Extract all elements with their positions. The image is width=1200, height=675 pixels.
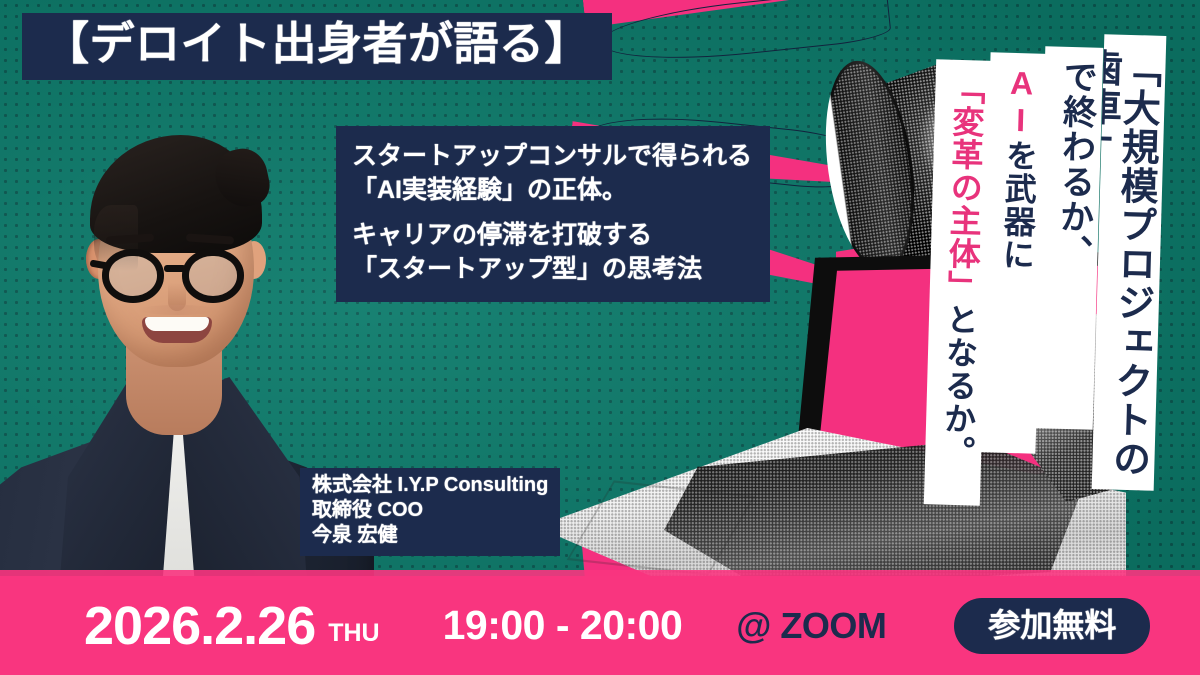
speaker-role: 取締役 COO	[312, 498, 548, 523]
event-platform: @ ZOOM	[736, 608, 886, 644]
headline-line-2: 「AI実装経験」の正体。	[352, 174, 752, 208]
speaker-teeth	[145, 317, 209, 331]
event-date: 2026.2.26	[84, 599, 315, 653]
glasses-lens-right	[182, 249, 244, 303]
vertical-copy-accent: AI	[1002, 65, 1040, 140]
speaker-mouth	[142, 317, 212, 343]
vertical-copy-accent: 「変革の主体」	[943, 72, 985, 304]
headline-line-3: キャリアの停滞を打破する	[352, 219, 752, 253]
headline-line-4: 「スタートアップ型」の思考法	[352, 253, 752, 287]
event-day-of-week: THU	[328, 621, 379, 646]
free-admission-badge[interactable]: 参加無料	[954, 598, 1150, 654]
speaker-cheek	[138, 305, 218, 315]
glasses-bridge	[164, 265, 186, 272]
title-banner-text: 【デロイト出身者が語る】	[44, 20, 590, 69]
speaker-credit: 株式会社 I.Y.P Consulting 取締役 COO 今泉 宏健	[300, 468, 560, 556]
banner-stage: 【デロイト出身者が語る】 スタートアップコンサルで得られる 「AI実装経験」の正…	[0, 0, 1200, 675]
headline-gap	[352, 207, 752, 219]
speaker-name: 今泉 宏健	[312, 523, 548, 548]
title-banner: 【デロイト出身者が語る】	[22, 13, 612, 80]
vertical-copy-column-1: 「大規模プロジェクトの歯車」	[1092, 34, 1167, 491]
speaker-company: 株式会社 I.Y.P Consulting	[312, 473, 548, 498]
headline-line-1: スタートアップコンサルで得られる	[352, 140, 752, 174]
speaker-photo	[0, 95, 350, 580]
glasses-lens-left	[102, 249, 164, 303]
event-time: 19:00 - 20:00	[443, 605, 683, 646]
bottom-bar: 2026.2.26 THU 19:00 - 20:00 @ ZOOM 参加無料	[0, 576, 1200, 675]
headline-box: スタートアップコンサルで得られる 「AI実装経験」の正体。 キャリアの停滞を打破…	[336, 126, 770, 302]
